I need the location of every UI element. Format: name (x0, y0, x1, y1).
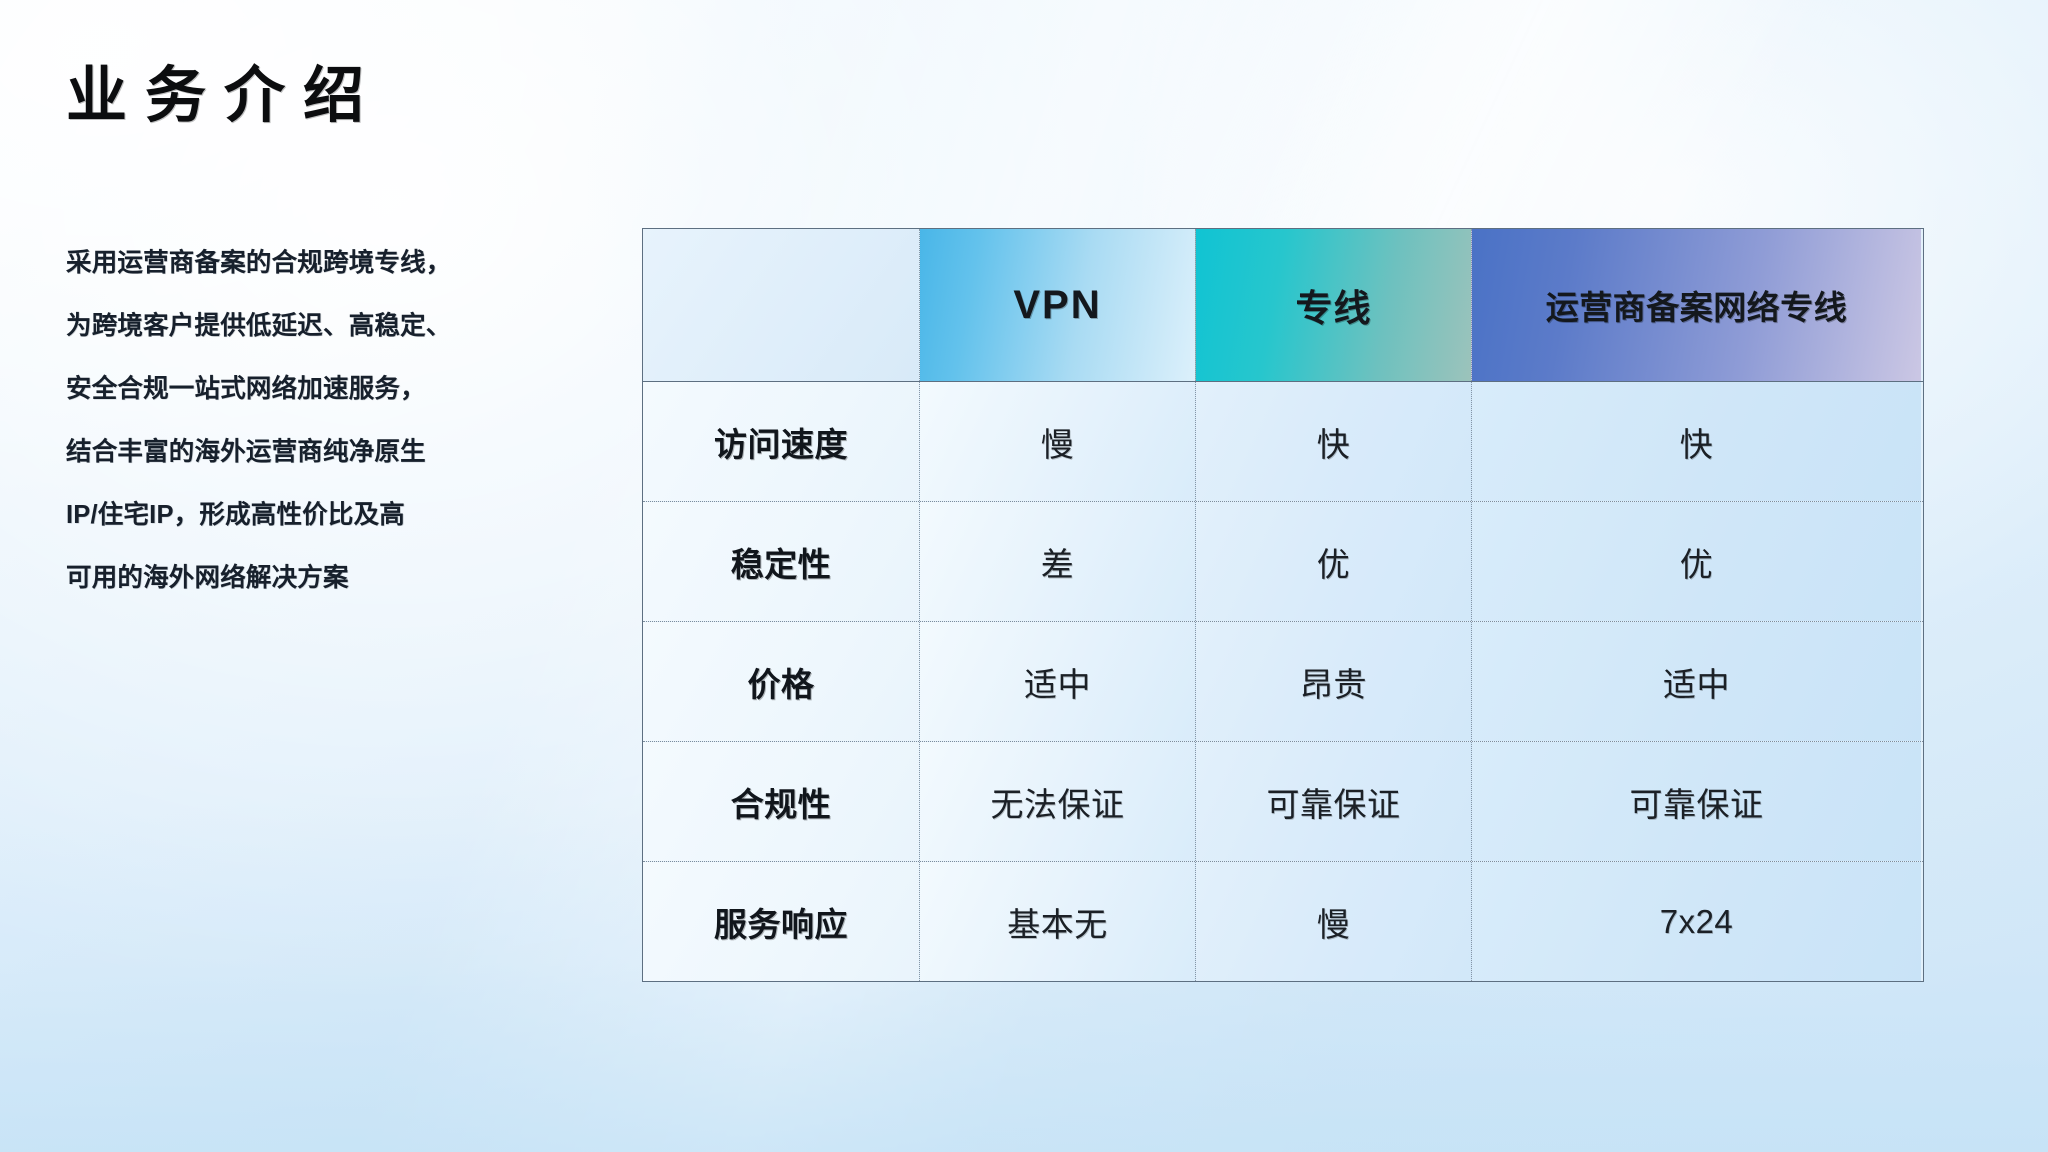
table-cell-value: 适中 (1024, 658, 1091, 706)
page-title: 业务介绍 (66, 60, 382, 132)
table-header-label: 专线 (1296, 278, 1372, 332)
table-row: 访问速度 慢 快 快 (643, 381, 1923, 501)
intro-paragraph: 采用运营商备案的合规跨境专线， 为跨境客户提供低延迟、高稳定、 安全合规一站式网… (66, 232, 626, 610)
table-row-label-cell: 价格 (643, 622, 919, 741)
table-row-label: 价格 (748, 658, 815, 706)
table-cell-dedicated-line: 优 (1195, 502, 1471, 621)
table-header-row: VPN 专线 运营商备案网络专线 (643, 229, 1923, 381)
intro-line: 可用的海外网络解决方案 (66, 547, 626, 610)
table-cell-value: 可靠保证 (1630, 778, 1764, 826)
table-header-label: VPN (1013, 283, 1101, 328)
table-cell-value: 差 (1041, 538, 1075, 586)
table-row-label-cell: 合规性 (643, 742, 919, 861)
table-cell-vpn: 慢 (919, 382, 1195, 501)
slide-content: 业务介绍 采用运营商备案的合规跨境专线， 为跨境客户提供低延迟、高稳定、 安全合… (0, 0, 2048, 1152)
table-cell-dedicated-line: 昂贵 (1195, 622, 1471, 741)
table-header-cell-vpn: VPN (919, 229, 1195, 381)
table-cell-dedicated-line: 快 (1195, 382, 1471, 501)
table-row-label: 访问速度 (714, 418, 848, 466)
table-cell-dedicated-line: 慢 (1195, 862, 1471, 981)
table-row-label-cell: 访问速度 (643, 382, 919, 501)
intro-line: 安全合规一站式网络加速服务， (66, 358, 626, 421)
table-cell-carrier-line: 可靠保证 (1471, 742, 1921, 861)
table-cell-carrier-line: 适中 (1471, 622, 1921, 741)
table-cell-vpn: 差 (919, 502, 1195, 621)
table-cell-value: 基本无 (1007, 898, 1108, 946)
table-cell-value: 快 (1680, 418, 1714, 466)
intro-line: IP/住宅IP，形成高性价比及高 (66, 484, 626, 547)
table-cell-carrier-line: 7x24 (1471, 862, 1921, 981)
table-row-label: 稳定性 (731, 538, 832, 586)
table-header-cell-blank (643, 229, 919, 381)
table-row-label-cell: 稳定性 (643, 502, 919, 621)
table-row: 稳定性 差 优 优 (643, 501, 1923, 621)
table-row: 价格 适中 昂贵 适中 (643, 621, 1923, 741)
table-row-label-cell: 服务响应 (643, 862, 919, 981)
table-cell-carrier-line: 快 (1471, 382, 1921, 501)
table-cell-dedicated-line: 可靠保证 (1195, 742, 1471, 861)
table-cell-carrier-line: 优 (1471, 502, 1921, 621)
table-cell-vpn: 基本无 (919, 862, 1195, 981)
table-cell-value: 慢 (1317, 898, 1351, 946)
table-header-cell-carrier-line: 运营商备案网络专线 (1471, 229, 1921, 381)
table-cell-value: 快 (1317, 418, 1351, 466)
table-row: 服务响应 基本无 慢 7x24 (643, 861, 1923, 981)
table-cell-vpn: 无法保证 (919, 742, 1195, 861)
intro-line: 采用运营商备案的合规跨境专线， (66, 232, 626, 295)
table-cell-value: 适中 (1663, 658, 1730, 706)
table-cell-value: 7x24 (1660, 903, 1734, 941)
table-row-label: 合规性 (731, 778, 832, 826)
intro-line: 为跨境客户提供低延迟、高稳定、 (66, 295, 626, 358)
table-header-label: 运营商备案网络专线 (1546, 281, 1848, 329)
table-cell-value: 无法保证 (991, 778, 1125, 826)
table-cell-vpn: 适中 (919, 622, 1195, 741)
intro-line: 结合丰富的海外运营商纯净原生 (66, 421, 626, 484)
comparison-table: VPN 专线 运营商备案网络专线 访问速度 慢 快 快 (642, 228, 1924, 982)
table-row: 合规性 无法保证 可靠保证 可靠保证 (643, 741, 1923, 861)
table-cell-value: 昂贵 (1300, 658, 1367, 706)
table-cell-value: 优 (1680, 538, 1714, 586)
table-row-label: 服务响应 (714, 898, 848, 946)
table-cell-value: 优 (1317, 538, 1351, 586)
table-cell-value: 可靠保证 (1267, 778, 1401, 826)
table-header-cell-dedicated-line: 专线 (1195, 229, 1471, 381)
table-cell-value: 慢 (1041, 418, 1075, 466)
